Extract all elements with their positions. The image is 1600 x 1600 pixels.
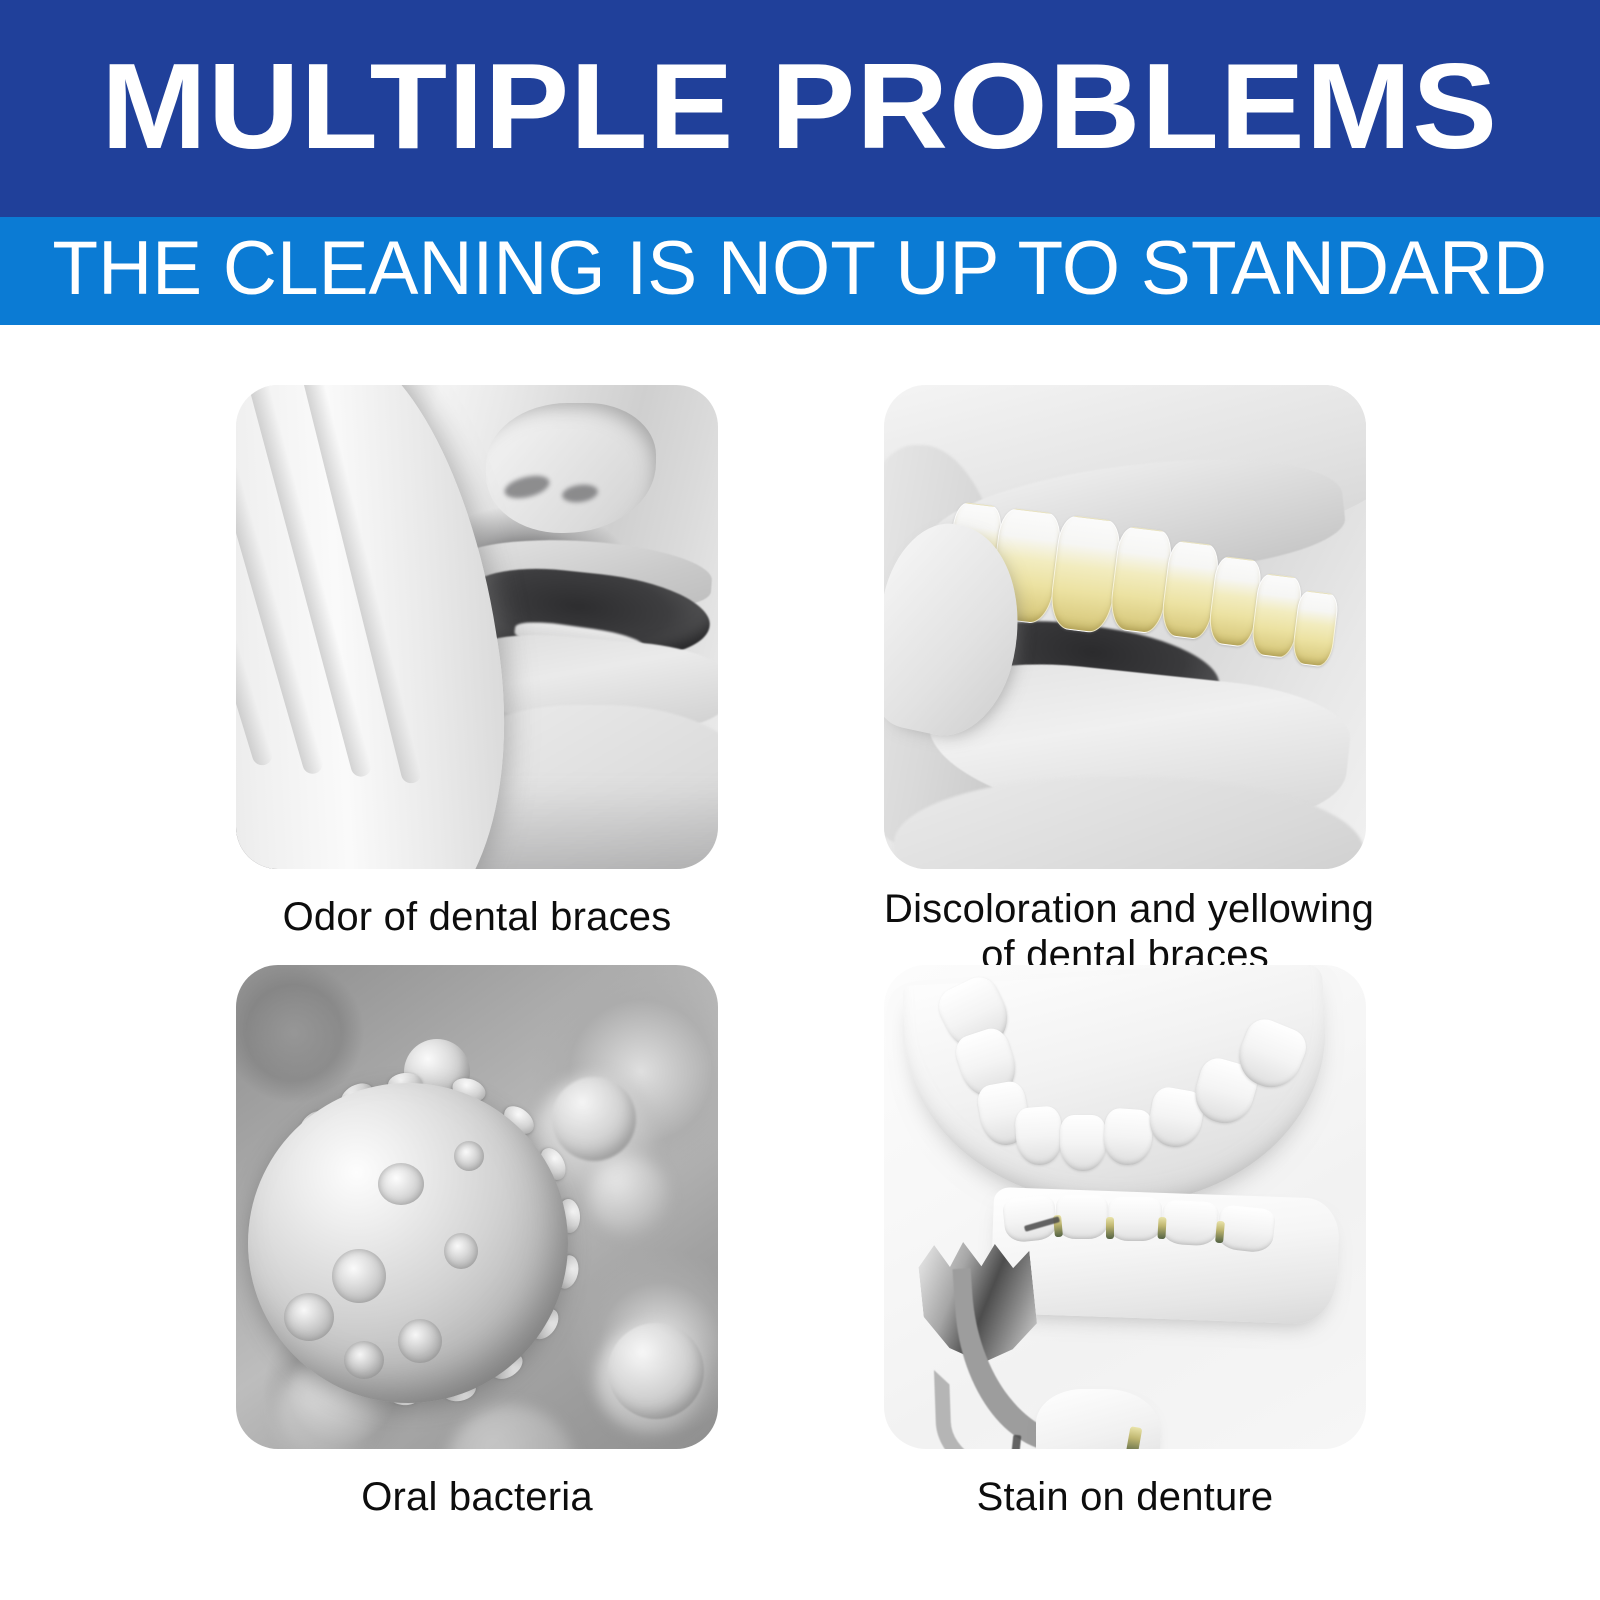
aligner-tooth bbox=[1291, 590, 1340, 668]
surface-pit bbox=[454, 1141, 484, 1171]
woman-covering-mouth-photo bbox=[236, 385, 718, 869]
problem-card-discoloration: Discoloration and yellowing of dental br… bbox=[884, 385, 1366, 978]
surface-pit bbox=[444, 1233, 478, 1269]
nose-shape bbox=[486, 403, 656, 533]
problem-card-bacteria: Oral bacteria bbox=[236, 965, 718, 1521]
denture-molar bbox=[1036, 1389, 1160, 1449]
blurred-cell bbox=[446, 1405, 576, 1449]
denture-tooth bbox=[1161, 1200, 1219, 1247]
product-infographic-poster: MULTIPLE PROBLEMS THE CLEANING IS NOT UP… bbox=[0, 0, 1600, 1600]
denture-stain bbox=[1157, 1217, 1166, 1239]
denture-stain bbox=[1106, 1217, 1114, 1239]
problem-caption-stain: Stain on denture bbox=[884, 1475, 1366, 1521]
bacteria-cell bbox=[552, 1077, 636, 1161]
problem-card-odor: Odor of dental braces bbox=[236, 385, 718, 941]
page-subtitle: THE CLEANING IS NOT UP TO STANDARD bbox=[53, 231, 1548, 311]
surface-pit bbox=[344, 1341, 384, 1379]
shadow-line bbox=[1011, 1435, 1022, 1449]
surface-pit bbox=[378, 1163, 424, 1205]
caption-line: Odor of dental braces bbox=[236, 895, 718, 941]
problem-caption-bacteria: Oral bacteria bbox=[236, 1475, 718, 1521]
caption-line: Discoloration and yellowing bbox=[884, 887, 1366, 933]
denture-tooth bbox=[1216, 1204, 1276, 1254]
model-tooth bbox=[1060, 1115, 1106, 1171]
bacteria-micrograph-photo bbox=[236, 965, 718, 1449]
stained-denture-photo bbox=[884, 965, 1366, 1449]
denture-tooth bbox=[1056, 1195, 1108, 1239]
bacteria-cell-primary bbox=[248, 1083, 568, 1403]
page-title: MULTIPLE PROBLEMS bbox=[102, 45, 1499, 173]
surface-pit bbox=[332, 1249, 386, 1303]
blurred-cell bbox=[588, 1155, 668, 1235]
surface-pit bbox=[284, 1293, 334, 1341]
problem-caption-odor: Odor of dental braces bbox=[236, 895, 718, 941]
surface-pit bbox=[398, 1319, 442, 1363]
primary-header-band: MULTIPLE PROBLEMS bbox=[0, 0, 1600, 217]
denture-tooth bbox=[1108, 1197, 1162, 1241]
secondary-header-band: THE CLEANING IS NOT UP TO STANDARD bbox=[0, 217, 1600, 325]
bacteria-cell bbox=[608, 1323, 704, 1419]
problem-grid: Odor of dental braces bbox=[236, 385, 1366, 1560]
yellowed-clear-aligner-photo bbox=[884, 385, 1366, 869]
problem-card-stain: Stain on denture bbox=[884, 965, 1366, 1521]
caption-line: Oral bacteria bbox=[236, 1475, 718, 1521]
caption-line: Stain on denture bbox=[884, 1475, 1366, 1521]
